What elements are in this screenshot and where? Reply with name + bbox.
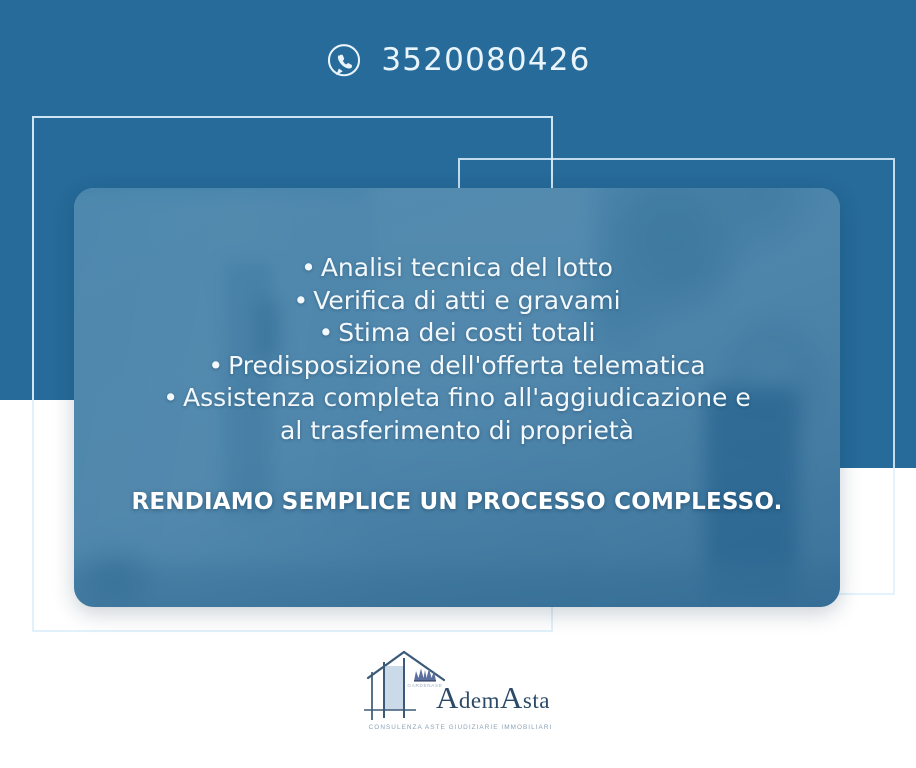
phone-number[interactable]: 3520080426 — [381, 45, 590, 76]
list-item-label: Predisposizione dell'offerta telematica — [228, 351, 706, 380]
list-item-label: Verifica di atti e gravami — [313, 286, 620, 315]
card-content: •Analisi tecnica del lotto •Verifica di … — [74, 188, 840, 607]
bullet-marker: • — [208, 350, 223, 383]
bullet-marker: • — [293, 285, 308, 318]
brand-name: AdemAsta — [436, 682, 558, 713]
bullet-marker: • — [163, 382, 178, 415]
brand-name-a1: A — [436, 680, 459, 715]
list-item-label: Stima dei costi totali — [338, 318, 595, 347]
bullet-marker: • — [318, 317, 333, 350]
logo-subtitle: CONSULENZA ASTE GIUDIZIARIE IMMOBILIARI — [363, 724, 558, 731]
list-item-label: Assistenza completa fino all'aggiudicazi… — [183, 383, 751, 445]
whatsapp-icon — [325, 42, 363, 80]
tagline: RENDIAMO SEMPLICE UN PROCESSO COMPLESSO. — [131, 489, 782, 515]
list-item: •Verifica di atti e gravami — [157, 285, 757, 318]
list-item: •Predisposizione dell'offerta telematica — [157, 350, 757, 383]
content-card: •Analisi tecnica del lotto •Verifica di … — [74, 188, 840, 607]
list-item-label: Analisi tecnica del lotto — [321, 253, 613, 282]
list-item: •Stima dei costi totali — [157, 317, 757, 350]
bullet-marker: • — [301, 252, 316, 285]
brand-logo: GARDENASE AdemAsta CONSULENZA ASTE GIUDI… — [0, 645, 916, 750]
brand-name-sta: sta — [523, 688, 550, 713]
brand-name-a2: A — [500, 680, 523, 715]
brand-name-dem: dem — [459, 688, 500, 713]
contact-header: 3520080426 — [0, 33, 916, 88]
logo-wordmark: AdemAsta — [436, 682, 558, 713]
list-item: •Assistenza completa fino all'aggiudicaz… — [157, 382, 757, 447]
poster-canvas: 3520080426 •Analisi tecnica del lotto — [0, 0, 916, 768]
list-item: •Analisi tecnica del lotto — [157, 252, 757, 285]
service-bullet-list: •Analisi tecnica del lotto •Verifica di … — [157, 252, 757, 447]
